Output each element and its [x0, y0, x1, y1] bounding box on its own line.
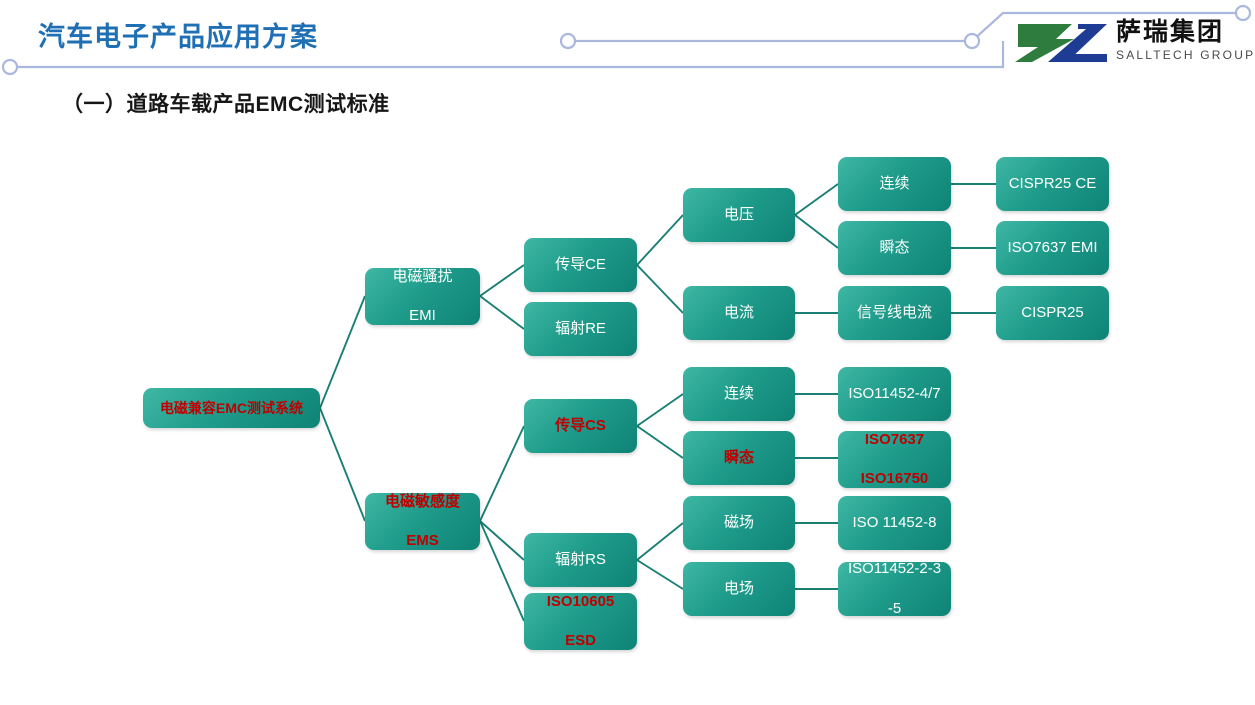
node-cs-transient[interactable]: 瞬态 [683, 431, 795, 485]
node-iso11452-235-line2: -5 [842, 599, 947, 619]
node-esd-line2: ESD [528, 631, 633, 651]
emc-test-standards-diagram: 电磁兼容EMC测试系统 电磁骚扰 EMI 电磁敏感度 EMS 传导CE 辐射RE… [0, 130, 1255, 690]
node-ems-line1: 电磁敏感度 [369, 492, 476, 512]
brand-name-cn: 萨瑞集团 [1116, 17, 1248, 47]
node-conducted-cs-label: 传导CS [528, 416, 633, 436]
node-cispr25-ce-label: CISPR25 CE [1000, 174, 1105, 194]
node-iso11452-4-7-label: ISO11452-4/7 [842, 384, 947, 404]
node-iso10605-esd-label: ISO10605 ESD [528, 592, 633, 652]
node-emi-transient-label: 瞬态 [842, 238, 947, 258]
node-root-label: 电磁兼容EMC测试系统 [147, 399, 316, 418]
node-voltage-label: 电压 [687, 205, 791, 225]
node-iso11452-2-3-5[interactable]: ISO11452-2-3 -5 [838, 562, 951, 616]
node-magnetic-field[interactable]: 磁场 [683, 496, 795, 550]
node-emi-continuous[interactable]: 连续 [838, 157, 951, 211]
node-ems[interactable]: 电磁敏感度 EMS [365, 493, 480, 550]
node-iso10605-esd[interactable]: ISO10605 ESD [524, 593, 637, 650]
node-iso11452-8-label: ISO 11452-8 [842, 513, 947, 533]
node-iso7637-line2: ISO16750 [842, 469, 947, 489]
node-electric-field[interactable]: 电场 [683, 562, 795, 616]
node-cs-continuous-label: 连续 [687, 384, 791, 404]
node-iso11452-2-3-5-label: ISO11452-2-3 -5 [842, 559, 947, 619]
node-emi-line1: 电磁骚扰 [369, 267, 476, 287]
node-emi-continuous-label: 连续 [842, 174, 947, 194]
node-electric-field-label: 电场 [687, 579, 791, 599]
node-cispr25-ce[interactable]: CISPR25 CE [996, 157, 1109, 211]
node-magnetic-field-label: 磁场 [687, 513, 791, 533]
node-voltage[interactable]: 电压 [683, 188, 795, 242]
node-signal-line-current[interactable]: 信号线电流 [838, 286, 951, 340]
node-iso7637-iso16750-label: ISO7637 ISO16750 [842, 430, 947, 490]
node-radiated-rs[interactable]: 辐射RS [524, 533, 637, 587]
node-iso7637-emi-label: ISO7637 EMI [1000, 238, 1105, 258]
node-conducted-ce[interactable]: 传导CE [524, 238, 637, 292]
brand-logo-text: 萨瑞集团 SALLTECH GROUP [1116, 17, 1248, 62]
node-cs-transient-label: 瞬态 [687, 448, 791, 468]
node-radiated-re[interactable]: 辐射RE [524, 302, 637, 356]
node-conducted-cs[interactable]: 传导CS [524, 399, 637, 453]
node-esd-line1: ISO10605 [528, 592, 633, 612]
node-cispr25[interactable]: CISPR25 [996, 286, 1109, 340]
brand-name-en: SALLTECH GROUP [1116, 48, 1248, 62]
slide-header: 汽车电子产品应用方案 萨瑞集团 SALLTECH GROUP [0, 0, 1255, 82]
node-cs-continuous[interactable]: 连续 [683, 367, 795, 421]
node-conducted-ce-label: 传导CE [528, 255, 633, 275]
page-title: 汽车电子产品应用方案 [38, 15, 318, 54]
node-signal-line-current-label: 信号线电流 [842, 303, 947, 323]
node-ems-line2: EMS [369, 531, 476, 551]
node-root[interactable]: 电磁兼容EMC测试系统 [143, 388, 320, 428]
node-iso11452-8[interactable]: ISO 11452-8 [838, 496, 951, 550]
node-cispr25-label: CISPR25 [1000, 303, 1105, 323]
node-iso7637-emi[interactable]: ISO7637 EMI [996, 221, 1109, 275]
section-heading: （一）道路车载产品EMC测试标准 [62, 88, 390, 118]
node-radiated-re-label: 辐射RE [528, 319, 633, 339]
node-emi-label: 电磁骚扰 EMI [369, 267, 476, 327]
node-iso11452-4-7[interactable]: ISO11452-4/7 [838, 367, 951, 421]
brand-logo: 萨瑞集团 SALLTECH GROUP [1012, 17, 1247, 69]
node-iso7637-line1: ISO7637 [842, 430, 947, 450]
node-radiated-rs-label: 辐射RS [528, 550, 633, 570]
node-emi[interactable]: 电磁骚扰 EMI [365, 268, 480, 325]
node-current-label: 电流 [687, 303, 791, 323]
node-iso7637-iso16750[interactable]: ISO7637 ISO16750 [838, 431, 951, 488]
node-emi-transient[interactable]: 瞬态 [838, 221, 951, 275]
node-ems-label: 电磁敏感度 EMS [369, 492, 476, 552]
node-iso11452-235-line1: ISO11452-2-3 [842, 559, 947, 579]
node-current[interactable]: 电流 [683, 286, 795, 340]
node-emi-line2: EMI [369, 306, 476, 326]
salltech-logo-icon [1012, 21, 1112, 65]
